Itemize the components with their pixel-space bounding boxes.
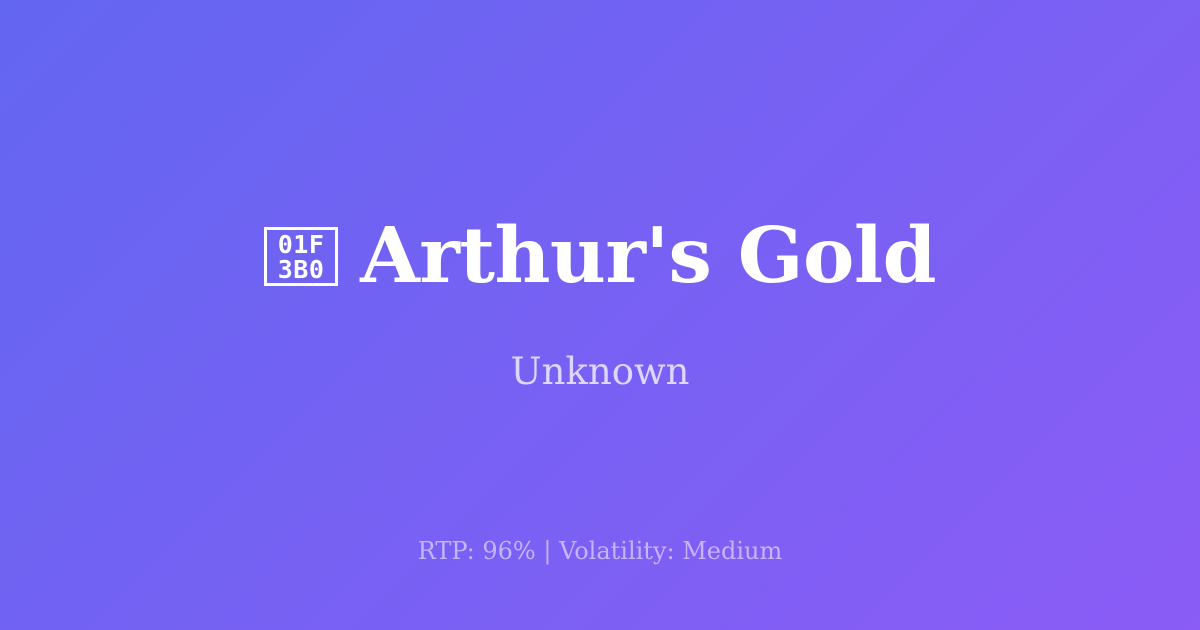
footer-meta-line: RTP: 96% | Volatility: Medium	[0, 539, 1200, 563]
hero-block: 01F 3B0 Arthur's Gold Unknown	[0, 218, 1200, 390]
tofu-codepoint-top: 01F	[278, 232, 325, 257]
tofu-codepoint-bottom: 3B0	[278, 257, 325, 282]
og-card: 01F 3B0 Arthur's Gold Unknown RTP: 96% |…	[0, 0, 1200, 630]
page-title: Arthur's Gold	[360, 218, 936, 295]
slot-machine-icon: 01F 3B0	[264, 227, 338, 286]
page-subtitle: Unknown	[510, 353, 689, 390]
title-row: 01F 3B0 Arthur's Gold	[264, 218, 936, 295]
